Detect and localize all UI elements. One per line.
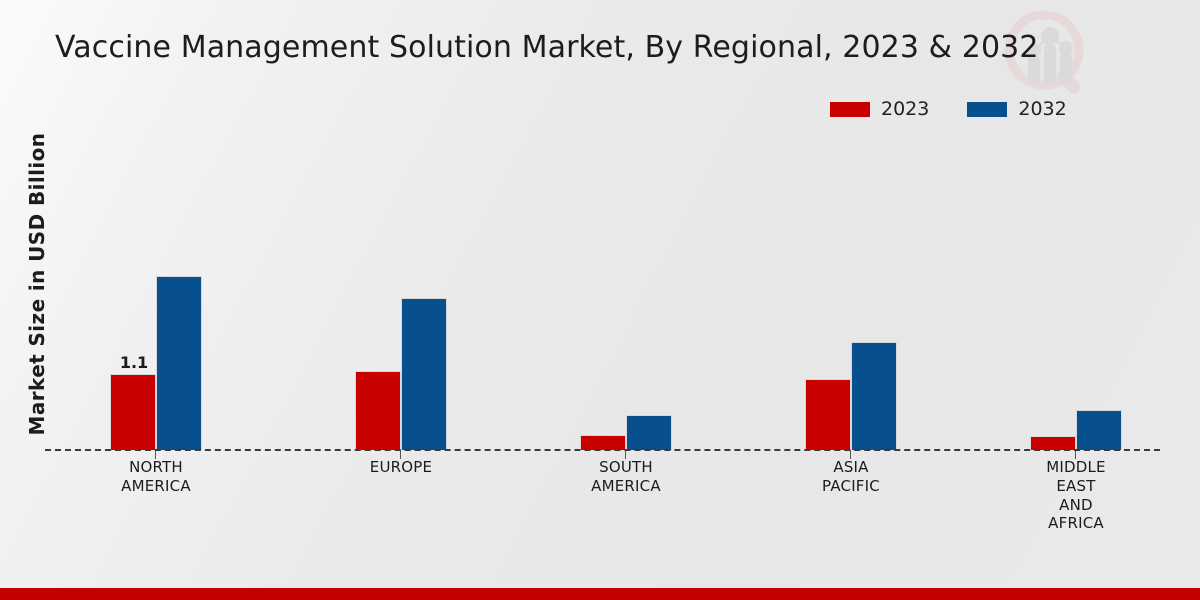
legend-label-2023: 2023 <box>881 100 929 119</box>
legend-swatch-2023 <box>830 102 870 117</box>
legend-label-2032: 2032 <box>1018 100 1066 119</box>
category-label-europe: EUROPE <box>301 458 501 477</box>
x-axis-baseline <box>45 449 1160 451</box>
legend-item-2023[interactable]: 2023 <box>830 100 929 119</box>
category-line-2: AMERICA <box>591 477 661 495</box>
chart-page: Vaccine Management Solution Market, By R… <box>0 0 1200 600</box>
legend-item-2032[interactable]: 2032 <box>967 100 1066 119</box>
bar-2023-north-america[interactable]: 1.1 <box>110 374 156 450</box>
bar-group-south-america: SOUTH AMERICA <box>580 120 672 450</box>
bar-2023-south-america[interactable] <box>580 435 626 450</box>
chart-title: Vaccine Management Solution Market, By R… <box>55 30 1039 65</box>
bar-2032-south-america[interactable] <box>626 415 672 450</box>
bar-2032-middle-east-and-africa[interactable] <box>1076 410 1122 450</box>
category-line-1: MIDDLE <box>1046 458 1106 476</box>
category-line-1: NORTH <box>129 458 183 476</box>
category-line-1: SOUTH <box>599 458 653 476</box>
category-label-asia-pacific: ASIA PACIFIC <box>751 458 951 496</box>
bar-group-europe: EUROPE <box>355 120 447 450</box>
category-label-middle-east-and-africa: MIDDLE EAST AND AFRICA <box>976 458 1176 533</box>
category-line-2: PACIFIC <box>822 477 880 495</box>
category-line-4: AFRICA <box>1048 514 1104 532</box>
category-line-2: AMERICA <box>121 477 191 495</box>
bar-2032-north-america[interactable] <box>156 276 202 450</box>
bar-value-label-north-america-2023: 1.1 <box>111 353 157 372</box>
bar-2032-asia-pacific[interactable] <box>851 342 897 450</box>
legend-swatch-2032 <box>967 102 1007 117</box>
category-line-2: EAST <box>1056 477 1095 495</box>
bar-2023-asia-pacific[interactable] <box>805 379 851 450</box>
bar-2023-europe[interactable] <box>355 371 401 450</box>
category-line-1: ASIA <box>833 458 868 476</box>
bar-group-middle-east-and-africa: MIDDLE EAST AND AFRICA <box>1030 120 1122 450</box>
chart-legend: 2023 2032 <box>830 100 1067 119</box>
category-label-south-america: SOUTH AMERICA <box>526 458 726 496</box>
bar-2023-middle-east-and-africa[interactable] <box>1030 436 1076 450</box>
bar-group-asia-pacific: ASIA PACIFIC <box>805 120 897 450</box>
footer-accent-bar <box>0 588 1200 600</box>
category-label-north-america: NORTH AMERICA <box>56 458 256 496</box>
category-line-1: EUROPE <box>370 458 432 476</box>
category-line-3: AND <box>1059 496 1093 514</box>
plot-area: 1.1 NORTH AMERICA EUROPE SOUTH <box>45 120 1160 450</box>
bar-group-north-america: 1.1 NORTH AMERICA <box>110 120 202 450</box>
bar-2032-europe[interactable] <box>401 298 447 450</box>
